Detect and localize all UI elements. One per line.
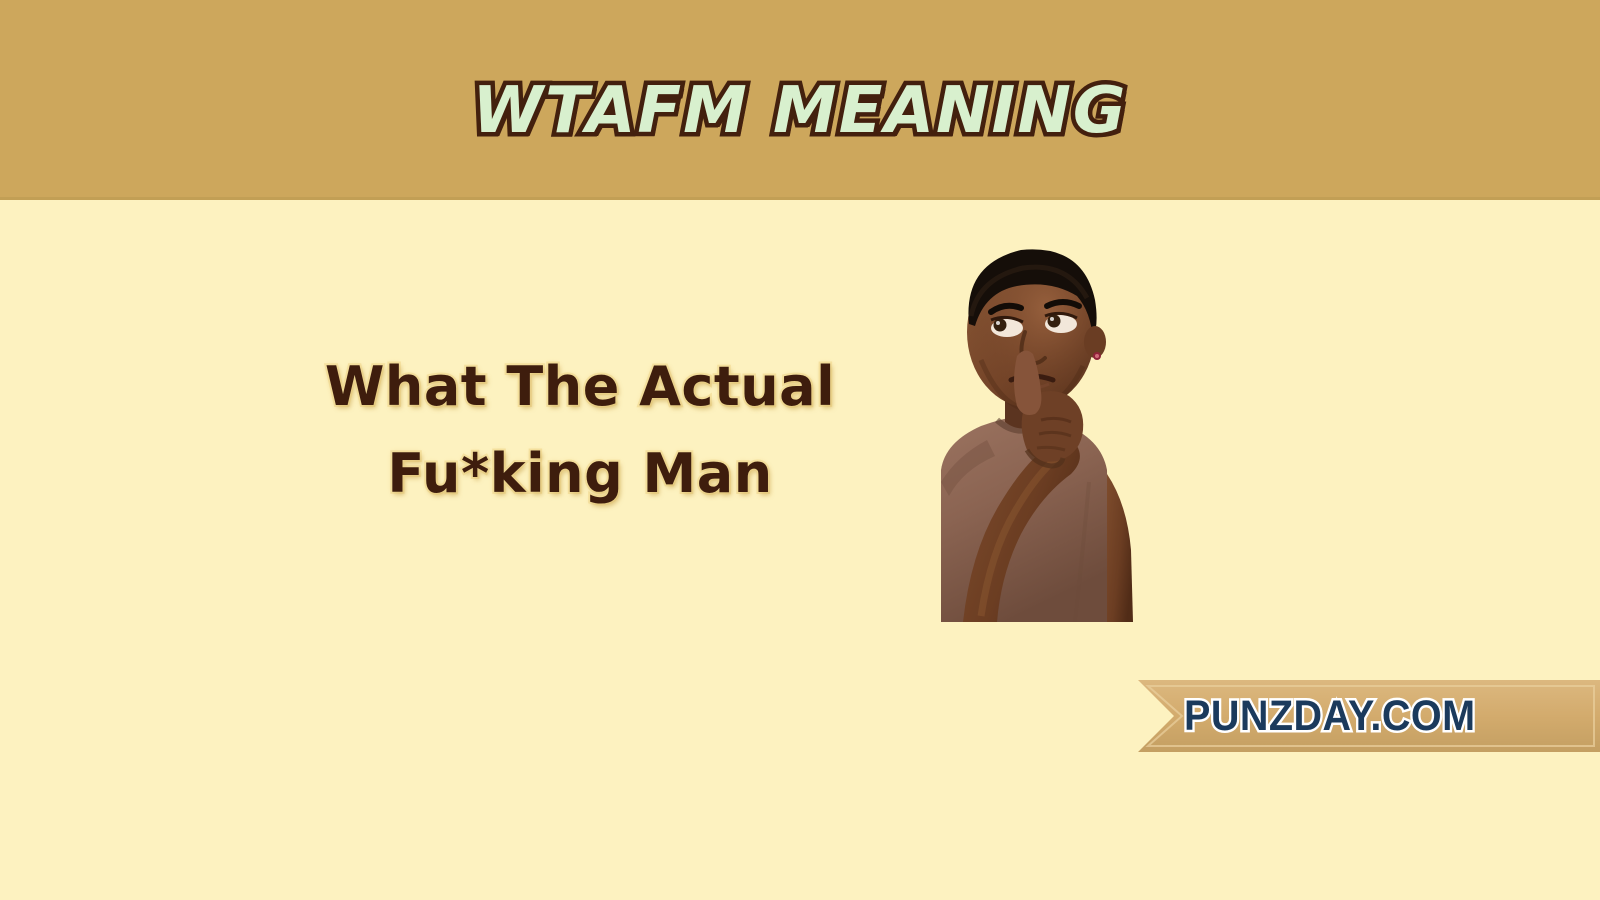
- headline-line-2: Fu*king Man: [300, 430, 860, 517]
- page-title: WTAFM MEANING: [0, 0, 1600, 200]
- watermark-ribbon[interactable]: PUNZDAY.COM: [1138, 680, 1600, 752]
- poster-canvas: WTAFM MEANING What The Actual Fu*king Ma…: [0, 0, 1600, 900]
- headline-block: What The Actual Fu*king Man: [300, 343, 860, 518]
- thinking-man-photo: [845, 220, 1195, 622]
- watermark-label: PUNZDAY.COM: [1138, 680, 1563, 752]
- main-stage: What The Actual Fu*king Man: [0, 203, 1600, 900]
- headline-line-1: What The Actual: [300, 343, 860, 430]
